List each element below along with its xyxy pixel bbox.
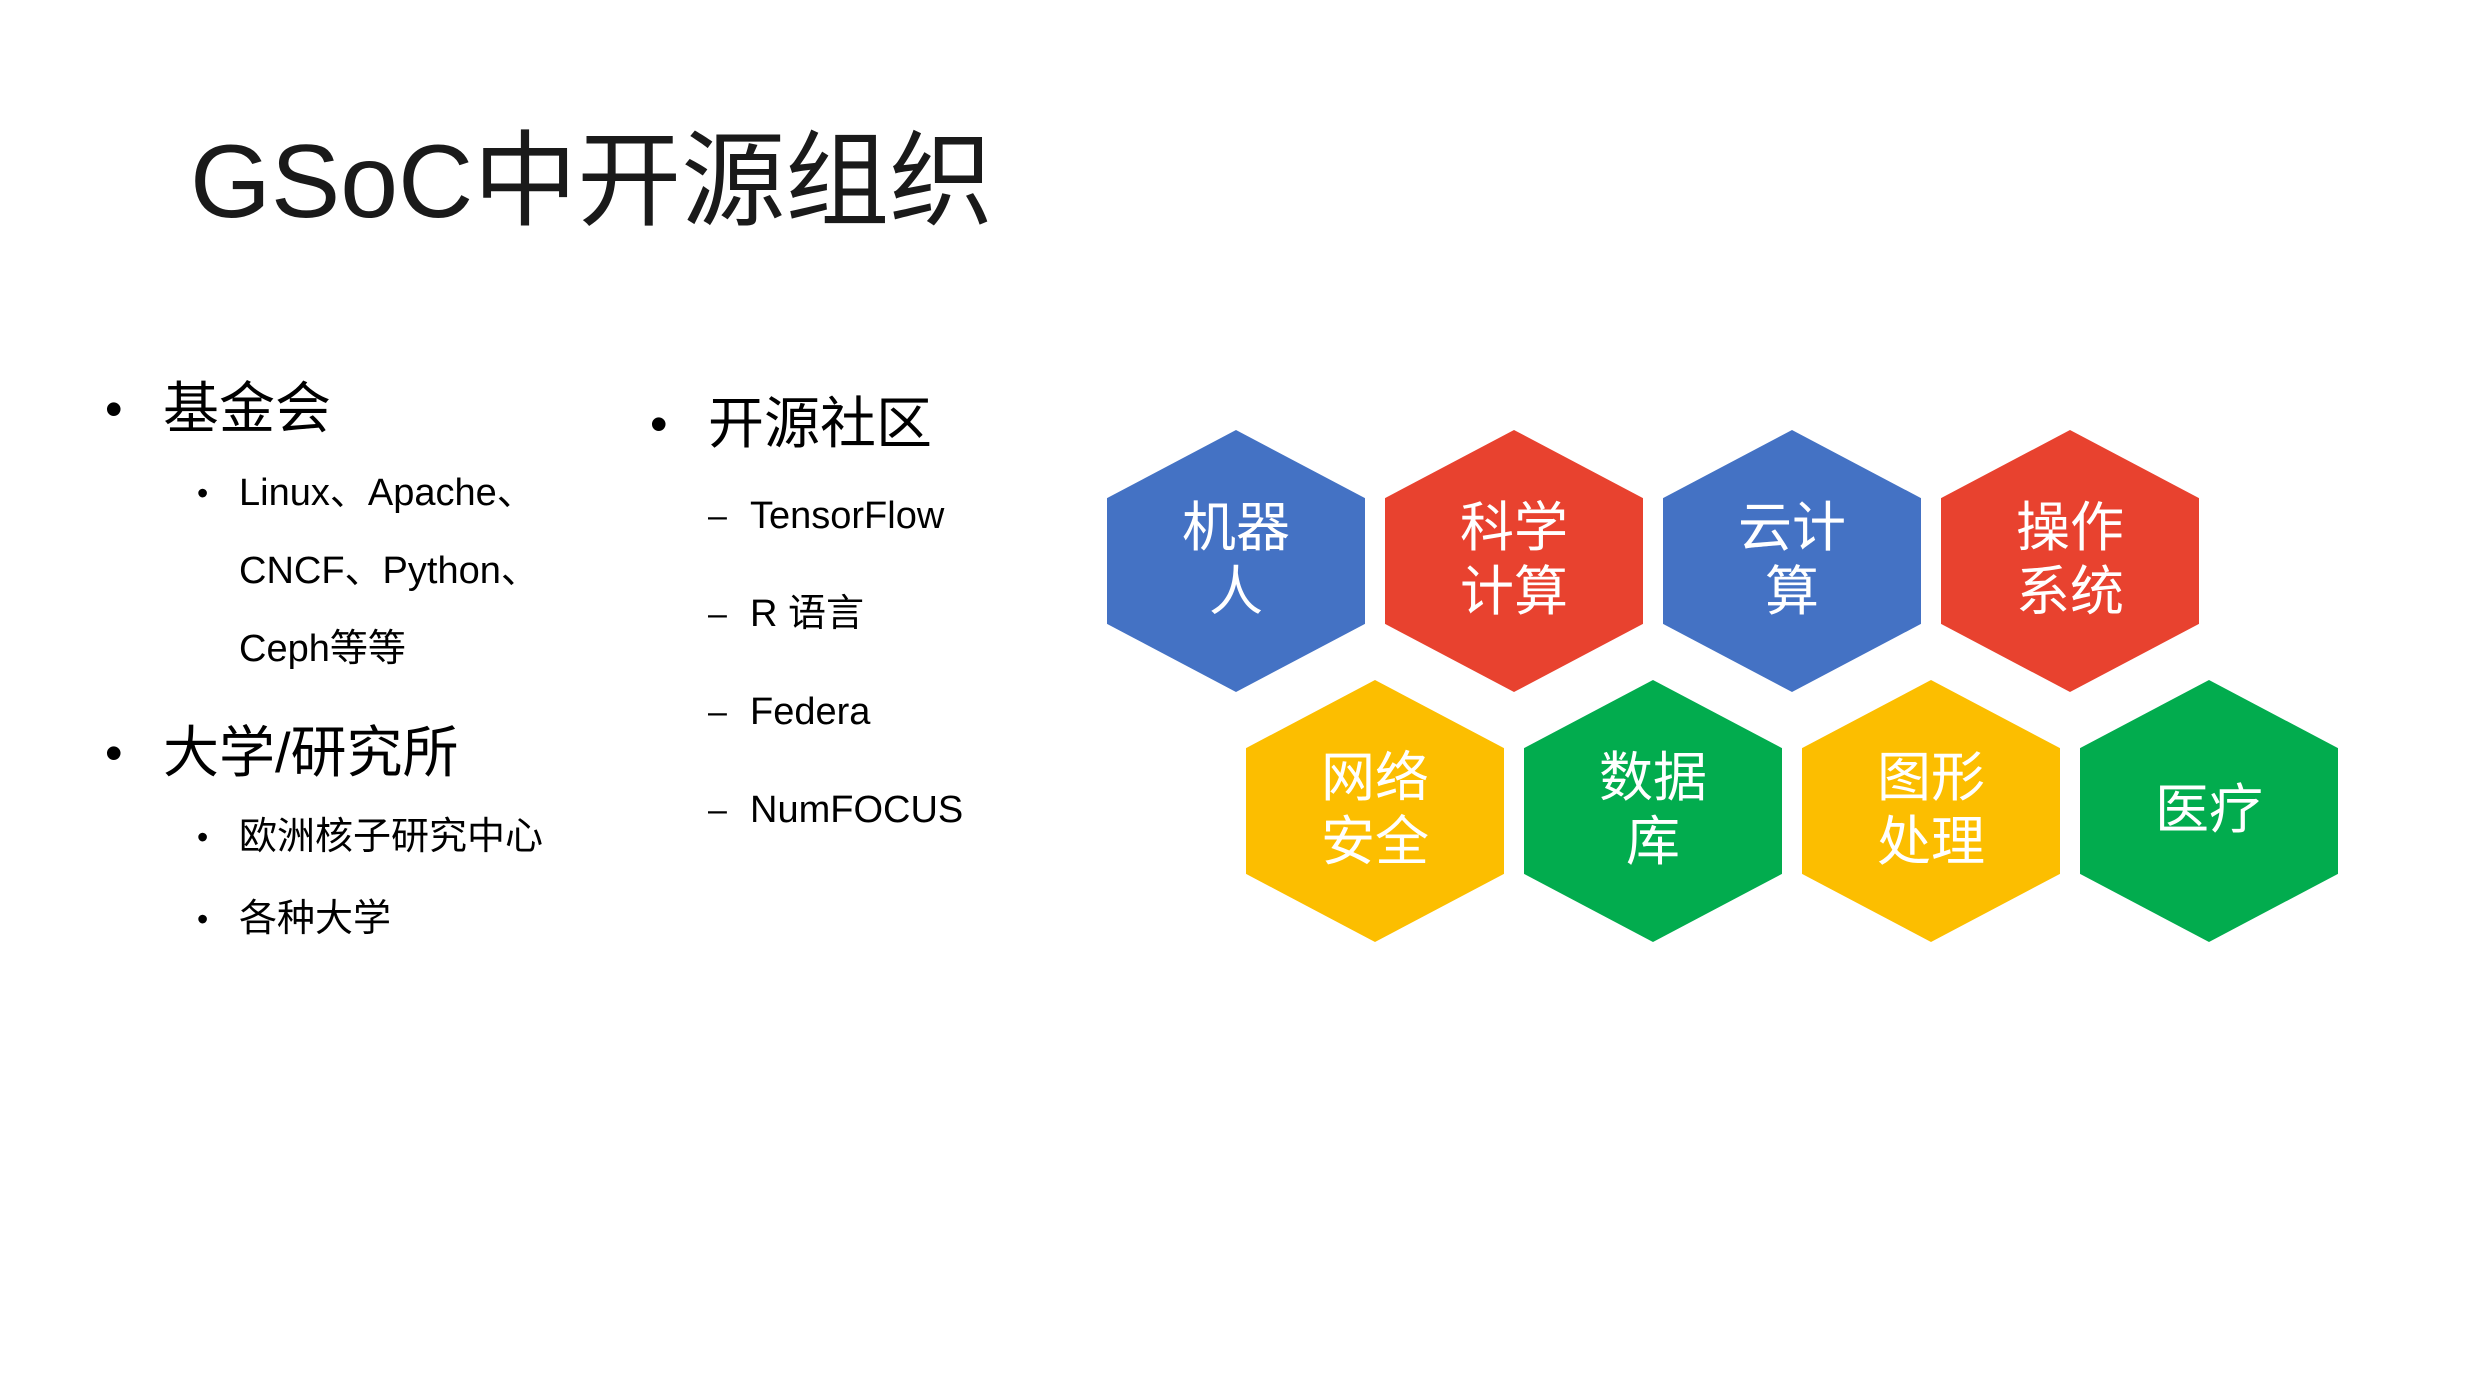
hexagon-label: 操作系统 [1995,497,2145,624]
bullet-level2-label: TensorFlow [750,469,944,563]
group-spacer [105,692,665,714]
bullet-dash-icon: – [708,665,750,759]
hexagon-label: 云计算 [1717,497,1867,624]
hexagon-label: 图形处理 [1856,747,2006,874]
bullet-group-universities: • 大学/研究所 • 欧洲核子研究中心 • 各种大学 [105,714,665,958]
content-column-left: • 基金会 • Linux、Apache、CNCF、Python、Ceph等等 … [105,370,665,962]
bullet-level2[interactable]: • Linux、Apache、CNCF、Python、Ceph等等 [197,454,665,688]
bullet-level2[interactable]: – R 语言 [708,567,1070,661]
bullet-level2[interactable]: – TensorFlow [708,469,1070,563]
bullet-dash-icon: – [708,567,750,661]
hexagon-cell[interactable]: 科学计算 [1385,430,1643,692]
page-title: GSoC中开源组织 [190,120,993,245]
bullet-dot-icon: • [197,880,239,958]
bullet-level1[interactable]: • 基金会 [105,370,665,448]
bullet-level1[interactable]: • 大学/研究所 [105,714,665,792]
hexagon-cell[interactable]: 医疗 [2080,680,2338,942]
bullet-dot-icon: • [650,385,708,463]
bullet-level2[interactable]: • 各种大学 [197,880,665,958]
bullet-dash-icon: – [708,763,750,857]
bullet-level1[interactable]: • 开源社区 [650,385,1070,463]
bullet-level1-label: 大学/研究所 [163,714,459,792]
sub-list: • 欧洲核子研究中心 • 各种大学 [197,798,665,958]
bullet-level1-label: 基金会 [163,370,331,448]
bullet-level2-label: Linux、Apache、CNCF、Python、Ceph等等 [239,454,569,688]
bullet-level2-label: R 语言 [750,567,864,661]
hexagon-label: 医疗 [2155,779,2263,843]
bullet-level2[interactable]: – NumFOCUS [708,763,1070,857]
hexagon-cell[interactable]: 机器人 [1107,430,1365,692]
hexagon-label: 科学计算 [1439,497,1589,624]
hexagon-cell[interactable]: 操作系统 [1941,430,2199,692]
sub-list: • Linux、Apache、CNCF、Python、Ceph等等 [197,454,665,688]
content-column-middle: • 开源社区 – TensorFlow – R 语言 – Federa – [650,385,1070,861]
sub-list: – TensorFlow – R 语言 – Federa – NumFOCUS [708,469,1070,857]
bullet-group-communities: • 开源社区 – TensorFlow – R 语言 – Federa – [650,385,1070,857]
bullet-level2-label: Federa [750,665,870,759]
hexagon-cell[interactable]: 数据库 [1524,680,1782,942]
hexagon-cell[interactable]: 图形处理 [1802,680,2060,942]
hexagon-label: 机器人 [1161,497,1311,624]
bullet-level1-label: 开源社区 [708,385,932,463]
bullet-dot-icon: • [197,454,239,532]
hexagon-label: 数据库 [1578,747,1728,874]
bullet-level2-label: 各种大学 [239,880,391,958]
hexagon-diagram: 机器人科学计算云计算操作系统网络安全数据库图形处理医疗 [1080,400,2400,980]
bullet-dot-icon: • [197,798,239,876]
bullet-level2[interactable]: • 欧洲核子研究中心 [197,798,665,876]
bullet-level2-label: NumFOCUS [750,763,963,857]
bullet-level2[interactable]: – Federa [708,665,1070,759]
hexagon-cell[interactable]: 云计算 [1663,430,1921,692]
slide-canvas: GSoC中开源组织 • 基金会 • Linux、Apache、CNCF、Pyth… [0,0,2489,1400]
bullet-level2-label: 欧洲核子研究中心 [239,798,543,876]
bullet-group-foundations: • 基金会 • Linux、Apache、CNCF、Python、Ceph等等 [105,370,665,688]
hexagon-label: 网络安全 [1300,747,1450,874]
bullet-dot-icon: • [105,370,163,448]
bullet-dot-icon: • [105,714,163,792]
bullet-dash-icon: – [708,469,750,563]
hexagon-cell[interactable]: 网络安全 [1246,680,1504,942]
